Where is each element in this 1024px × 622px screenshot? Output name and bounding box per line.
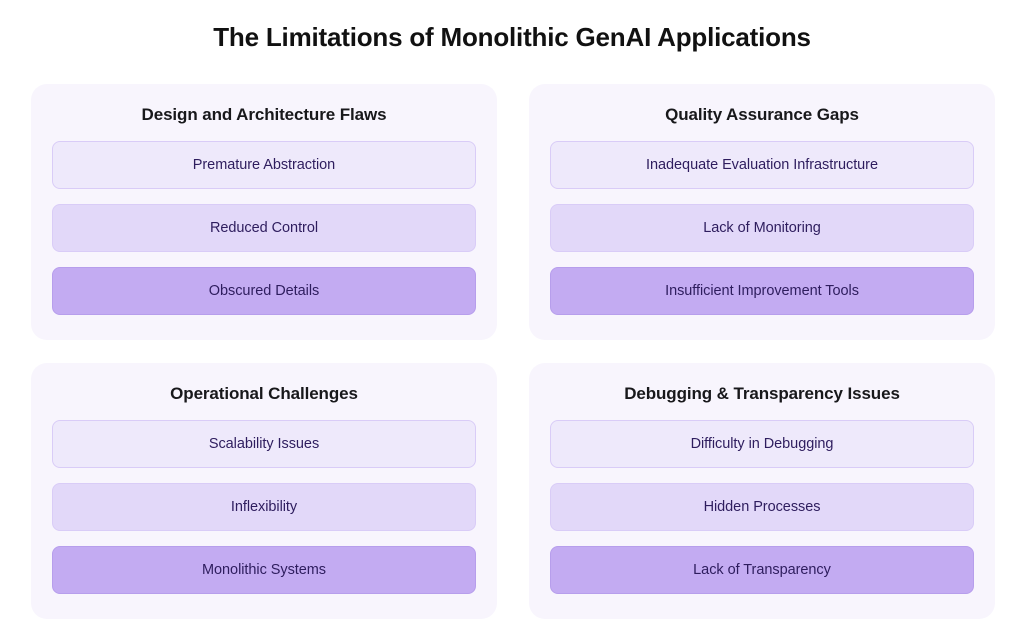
list-item[interactable]: Premature Abstraction	[52, 141, 476, 189]
list-item[interactable]: Inflexibility	[52, 483, 476, 531]
list-item[interactable]: Reduced Control	[52, 204, 476, 252]
card-item-list: Premature Abstraction Reduced Control Ob…	[52, 141, 476, 315]
list-item[interactable]: Monolithic Systems	[52, 546, 476, 594]
page-title: The Limitations of Monolithic GenAI Appl…	[0, 20, 1024, 54]
card-item-list: Difficulty in Debugging Hidden Processes…	[550, 420, 974, 594]
category-card-debugging-and-transparency-issues: Debugging & Transparency Issues Difficul…	[529, 363, 995, 619]
card-title: Design and Architecture Flaws	[52, 104, 476, 126]
category-card-operational-challenges: Operational Challenges Scalability Issue…	[31, 363, 497, 619]
list-item[interactable]: Difficulty in Debugging	[550, 420, 974, 468]
list-item[interactable]: Scalability Issues	[52, 420, 476, 468]
list-item[interactable]: Lack of Monitoring	[550, 204, 974, 252]
infographic-canvas: The Limitations of Monolithic GenAI Appl…	[0, 0, 1024, 622]
list-item[interactable]: Inadequate Evaluation Infrastructure	[550, 141, 974, 189]
category-card-quality-assurance-gaps: Quality Assurance Gaps Inadequate Evalua…	[529, 84, 995, 340]
card-grid: Design and Architecture Flaws Premature …	[31, 84, 995, 619]
card-item-list: Scalability Issues Inflexibility Monolit…	[52, 420, 476, 594]
list-item[interactable]: Lack of Transparency	[550, 546, 974, 594]
card-title: Operational Challenges	[52, 383, 476, 405]
list-item[interactable]: Obscured Details	[52, 267, 476, 315]
list-item[interactable]: Hidden Processes	[550, 483, 974, 531]
card-title: Debugging & Transparency Issues	[550, 383, 974, 405]
card-title: Quality Assurance Gaps	[550, 104, 974, 126]
list-item[interactable]: Insufficient Improvement Tools	[550, 267, 974, 315]
card-item-list: Inadequate Evaluation Infrastructure Lac…	[550, 141, 974, 315]
category-card-design-and-architecture-flaws: Design and Architecture Flaws Premature …	[31, 84, 497, 340]
